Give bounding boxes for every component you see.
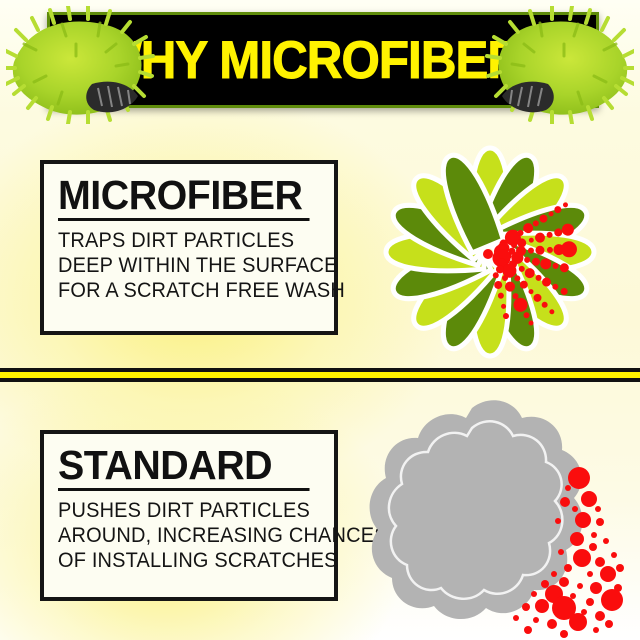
standard-line-2: AROUND, INCREASING CHANCES xyxy=(58,523,307,548)
microfiber-card-title: MICROFIBER xyxy=(58,174,310,221)
standard-line-1: PUSHES DIRT PARTICLES xyxy=(58,498,307,523)
section-divider xyxy=(0,368,640,382)
standard-line-3: OF INSTALLING SCRATCHES xyxy=(58,548,307,573)
header: WHY MICROFIBER? xyxy=(0,0,640,128)
microfiber-card-body: TRAPS DIRT PARTICLES DEEP WITHIN THE SUR… xyxy=(58,228,320,303)
standard-info-card: STANDARD PUSHES DIRT PARTICLES AROUND, I… xyxy=(40,430,338,601)
standard-card-title: STANDARD xyxy=(58,444,310,491)
microfiber-line-1: TRAPS DIRT PARTICLES xyxy=(58,228,307,253)
page-title: WHY MICROFIBER? xyxy=(95,34,551,87)
standard-card-body: PUSHES DIRT PARTICLES AROUND, INCREASING… xyxy=(58,498,320,573)
microfiber-line-2: DEEP WITHIN THE SURFACE xyxy=(58,253,307,278)
standard-cloth-graphic xyxy=(368,392,640,640)
divider-line-bottom xyxy=(0,378,640,382)
title-banner: WHY MICROFIBER? xyxy=(47,12,599,108)
microfiber-flower-graphic xyxy=(362,126,630,368)
microfiber-info-card: MICROFIBER TRAPS DIRT PARTICLES DEEP WIT… xyxy=(40,160,338,335)
microfiber-line-3: FOR A SCRATCH FREE WASH xyxy=(58,278,307,303)
infographic-poster: WHY MICROFIBER? xyxy=(0,0,640,640)
